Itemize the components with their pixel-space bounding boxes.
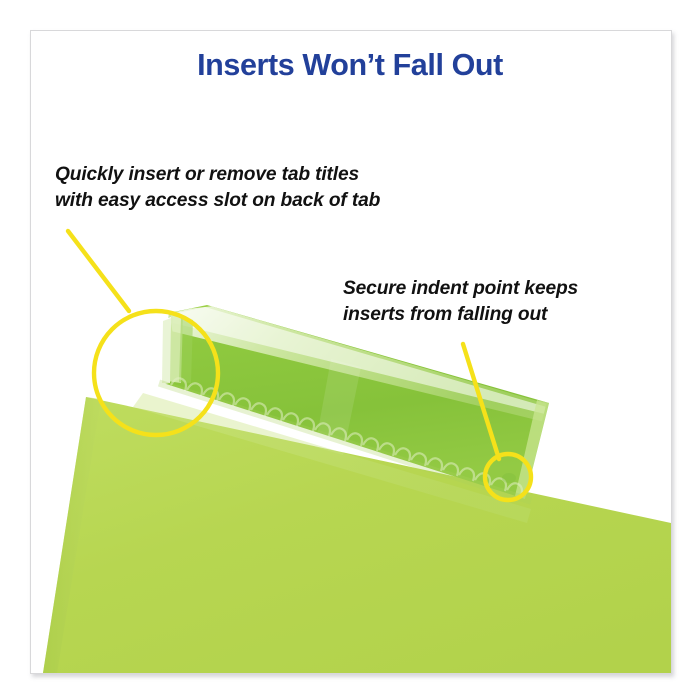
callout-indent-point-line1: Secure indent point keeps [343,276,578,302]
product-photo-artwork [31,31,671,673]
callout-access-slot-line1: Quickly insert or remove tab titles [55,162,380,188]
page-title: Inserts Won’t Fall Out [0,48,700,83]
divider-tab-left-wall-shade [179,317,193,383]
callout-indent-point: Secure indent point keeps inserts from f… [343,276,578,327]
callout-access-slot: Quickly insert or remove tab titles with… [55,162,380,213]
product-feature-graphic: Inserts Won’t Fall Out Quickly insert or… [0,0,700,700]
tab-access-slot-shadow [162,318,171,383]
callout-access-slot-line2: with easy access slot on back of tab [55,188,380,214]
product-photo-frame [30,30,672,674]
callout-indent-point-line2: inserts from falling out [343,302,578,328]
product-photo [31,31,671,673]
secure-indent-point [502,473,516,483]
